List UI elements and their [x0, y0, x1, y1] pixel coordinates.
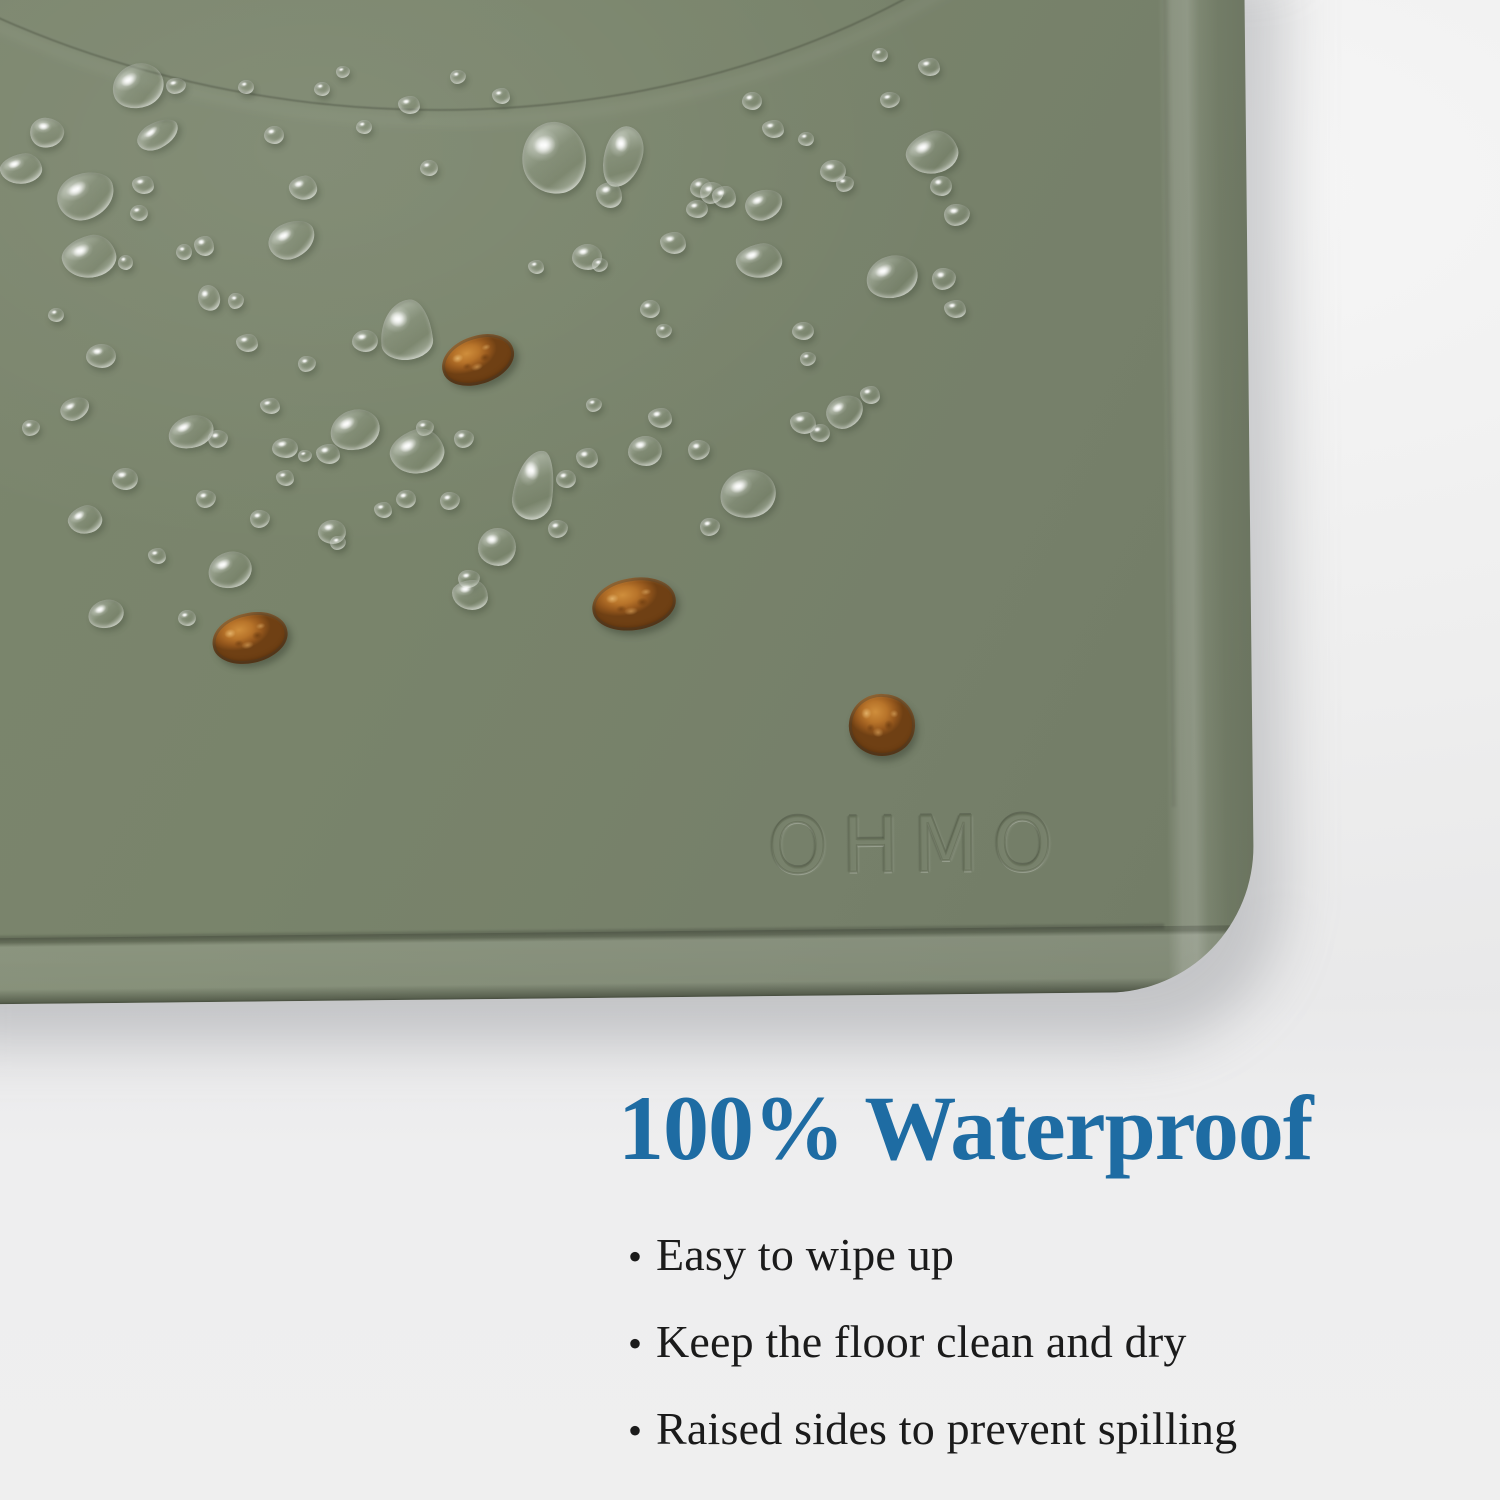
bullet-dot-icon: • [628, 1237, 656, 1277]
bullet-dot-icon: • [628, 1411, 656, 1451]
list-item: • Easy to wipe up [628, 1228, 1448, 1281]
bullet-text: Keep the floor clean and dry [656, 1315, 1187, 1368]
list-item: • Keep the floor clean and dry [628, 1315, 1448, 1368]
ohmo-embossed-logo: OHMO [768, 798, 1067, 890]
product-marketing-image: OHMO 100% Waterproof • Easy to wipe up •… [0, 0, 1500, 1500]
bullet-dot-icon: • [628, 1324, 656, 1364]
feature-bullet-list: • Easy to wipe up • Keep the floor clean… [628, 1228, 1448, 1489]
headline-waterproof: 100% Waterproof [618, 1082, 1313, 1174]
silicone-pet-feeding-mat [0, 0, 1255, 1005]
mat-surface-sheen [0, 0, 1255, 1005]
raised-lip-right-edge [1124, 0, 1255, 992]
list-item: • Raised sides to prevent spilling [628, 1402, 1448, 1455]
bullet-text: Easy to wipe up [656, 1228, 954, 1281]
bullet-text: Raised sides to prevent spilling [656, 1402, 1237, 1455]
